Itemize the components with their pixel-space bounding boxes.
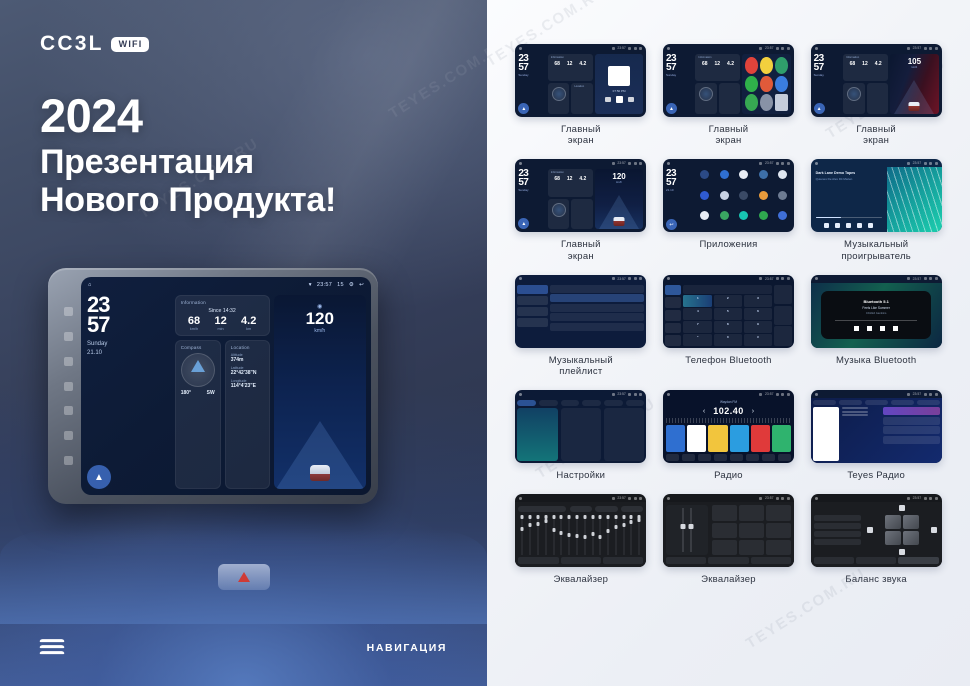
track-title: Feels Like Summer bbox=[862, 306, 889, 310]
sidebar-item-albums[interactable] bbox=[517, 307, 547, 316]
status-time: 23:57 bbox=[913, 392, 922, 396]
playback-controls[interactable] bbox=[605, 96, 634, 103]
prev-icon[interactable] bbox=[835, 223, 840, 228]
preset-button[interactable] bbox=[766, 540, 791, 555]
band-fader[interactable] bbox=[605, 515, 611, 555]
nav-countries[interactable] bbox=[865, 400, 888, 405]
location-card[interactable]: Location Altitude 374m Latitude 22°42'38… bbox=[225, 340, 270, 489]
preset-button[interactable] bbox=[712, 540, 737, 555]
band-fader[interactable] bbox=[543, 515, 549, 555]
metric-value: 12 bbox=[214, 316, 226, 327]
preset-button[interactable] bbox=[766, 523, 791, 538]
thumb-home-screen-road-red[interactable]: 23:57 23 57 Sunday ▲ Information bbox=[811, 44, 942, 117]
preset-button[interactable] bbox=[739, 540, 764, 555]
preset-station[interactable] bbox=[751, 425, 770, 452]
dialpad-key[interactable]: 6 bbox=[744, 308, 773, 320]
grid-cell[interactable]: 23:57 bbox=[806, 390, 946, 481]
grid-cell[interactable]: 23:57 23 57 Sunday ▲ Information bbox=[806, 44, 946, 146]
tab-balance[interactable] bbox=[603, 557, 643, 564]
band-fader[interactable] bbox=[558, 515, 564, 555]
speed-unit: km/h bbox=[616, 181, 622, 184]
equalizer-tabs[interactable] bbox=[518, 557, 643, 564]
thumb-music-player[interactable]: 23:57 Dark Lane Demo Tapes Quienes De Al… bbox=[811, 159, 942, 232]
back-button[interactable]: ↩ bbox=[666, 219, 677, 230]
app-icon-dvr-recorder[interactable] bbox=[739, 191, 748, 200]
toolbar-loc[interactable] bbox=[746, 454, 759, 461]
compass-card[interactable] bbox=[843, 83, 865, 114]
rail-button-vol-up[interactable] bbox=[64, 456, 73, 465]
preset-button[interactable] bbox=[712, 523, 737, 538]
headline-year: 2024 bbox=[40, 92, 336, 139]
thumb-caption: Музыкальныйпроигрыватель bbox=[841, 239, 911, 261]
pause-icon[interactable] bbox=[846, 223, 851, 228]
save-button[interactable] bbox=[595, 506, 618, 512]
band-fader[interactable] bbox=[636, 515, 642, 555]
tab-eq[interactable] bbox=[666, 557, 706, 564]
grid-cell[interactable]: 23:57 23 57 Sunday ▲ Information bbox=[659, 44, 799, 146]
app-icon-yandex[interactable] bbox=[760, 57, 773, 74]
sidebar-item-settings[interactable] bbox=[665, 335, 682, 346]
grid-cell[interactable]: 23:57 1 bbox=[659, 275, 799, 377]
home-icon bbox=[815, 162, 818, 165]
device-side-rail[interactable] bbox=[55, 277, 81, 495]
speaker-levels[interactable] bbox=[814, 505, 862, 555]
app-icon-maps[interactable] bbox=[775, 57, 788, 74]
fader-treble[interactable] bbox=[690, 508, 692, 552]
metric-value: 4.2 bbox=[579, 176, 586, 182]
rail-button-next[interactable] bbox=[64, 332, 73, 341]
thumb-home-screen-music[interactable]: 23:57 23 57 Sunday ▲ Information bbox=[515, 44, 646, 117]
status-time: 23:57 bbox=[317, 282, 332, 288]
dialpad[interactable]: 1 2 3 4 5 6 7 8 9 * 0 # bbox=[683, 285, 772, 346]
track-list[interactable] bbox=[550, 285, 645, 346]
information-card[interactable]: Information 68 12 4.2 bbox=[548, 169, 593, 196]
preset-station[interactable] bbox=[687, 425, 706, 452]
playback-controls[interactable] bbox=[854, 326, 898, 331]
rail-button-back[interactable] bbox=[64, 406, 73, 415]
preset-button[interactable] bbox=[712, 505, 737, 520]
fader-bass[interactable] bbox=[682, 508, 684, 552]
equalizer-tabs[interactable] bbox=[666, 557, 791, 564]
status-time: 23:57 bbox=[765, 496, 774, 500]
preset-buttons[interactable] bbox=[712, 505, 791, 555]
dialpad-key[interactable]: 4 bbox=[683, 308, 712, 320]
frequency-scale[interactable] bbox=[666, 418, 791, 423]
tab-effects[interactable] bbox=[708, 557, 748, 564]
tab-eq[interactable] bbox=[518, 557, 558, 564]
level-front-left[interactable] bbox=[814, 515, 862, 521]
nav-favorites[interactable] bbox=[891, 400, 914, 405]
preset-station[interactable] bbox=[666, 425, 685, 452]
location-card[interactable]: Location bbox=[571, 83, 593, 114]
app-icon-all-apps[interactable] bbox=[775, 94, 788, 111]
app-icon-gallery[interactable] bbox=[778, 191, 787, 200]
bluetooth-version-label: Bluetooth 5.1 bbox=[863, 299, 888, 304]
compass-dial-icon bbox=[847, 87, 861, 101]
sidebar-item-folders[interactable] bbox=[517, 318, 547, 327]
nav-genres[interactable] bbox=[839, 400, 862, 405]
presentation-slide: TEYES.COM.RU TEYES.COM.RU CC3L WIFI 2024… bbox=[0, 0, 970, 686]
list-item[interactable] bbox=[550, 285, 645, 293]
grid-cell[interactable]: 23:57 Waydan FM ‹ 102.40 › bbox=[659, 390, 799, 481]
home-icon bbox=[815, 393, 818, 396]
navigation-button[interactable]: ▲ bbox=[814, 103, 825, 114]
app-icon-bluetooth[interactable] bbox=[720, 170, 729, 179]
thumb-bluetooth-phone[interactable]: 23:57 1 bbox=[663, 275, 794, 348]
band-fader[interactable] bbox=[582, 515, 588, 555]
information-card[interactable]: Information Since 14:32 68 km/h 12 bbox=[175, 295, 270, 336]
level-front-right[interactable] bbox=[814, 523, 862, 529]
prev-station-icon[interactable]: ‹ bbox=[703, 408, 705, 415]
now-playing-info: Dark Lane Demo Tapes Quienes De Alex Dit… bbox=[811, 167, 887, 232]
tab-system[interactable] bbox=[626, 400, 645, 406]
app-icon-play-store[interactable] bbox=[745, 94, 758, 111]
band-fader[interactable] bbox=[620, 515, 626, 555]
tab-display[interactable] bbox=[561, 400, 580, 406]
arrow-left-icon[interactable] bbox=[867, 527, 873, 533]
arrow-up-icon[interactable] bbox=[899, 505, 905, 511]
tab-wifi[interactable] bbox=[517, 400, 536, 406]
app-icon-bluetooth-music[interactable] bbox=[739, 170, 748, 179]
location-card[interactable] bbox=[571, 199, 593, 230]
application-grid[interactable] bbox=[696, 169, 791, 230]
tab-effects[interactable] bbox=[561, 557, 601, 564]
information-title: Information bbox=[698, 56, 737, 59]
back-icon[interactable]: ↩ bbox=[359, 282, 364, 288]
screen-body: 23 57 Sunday 21.10 ▲ Information Since 1… bbox=[81, 292, 371, 495]
band-fader[interactable] bbox=[574, 515, 580, 555]
home-icon bbox=[667, 393, 670, 396]
status-time: 23:57 bbox=[913, 496, 922, 500]
location-card[interactable] bbox=[719, 83, 741, 114]
band-fader[interactable] bbox=[589, 515, 595, 555]
compass-card[interactable] bbox=[695, 83, 717, 114]
thumb-radio[interactable]: 23:57 Waydan FM ‹ 102.40 › bbox=[663, 390, 794, 463]
app-icon-calculator[interactable] bbox=[759, 170, 768, 179]
reset-button[interactable] bbox=[570, 506, 593, 512]
information-title: Information bbox=[551, 56, 590, 59]
level-rear-left[interactable] bbox=[814, 531, 862, 537]
card-wifi[interactable] bbox=[517, 408, 557, 461]
app-icon-phone[interactable] bbox=[745, 76, 758, 93]
app-icon-file-manager[interactable] bbox=[759, 191, 768, 200]
app-icon-radio[interactable] bbox=[778, 211, 787, 220]
status-time: 23:57 bbox=[765, 46, 774, 50]
status-time: 23:57 bbox=[913, 161, 922, 165]
home-icon bbox=[519, 47, 522, 50]
navigation-button[interactable]: ▲ bbox=[666, 103, 677, 114]
toolbar-list[interactable] bbox=[698, 454, 711, 461]
apps-widget[interactable] bbox=[742, 54, 791, 114]
dialpad-key[interactable]: 5 bbox=[714, 308, 743, 320]
call-icon[interactable] bbox=[774, 326, 792, 345]
band-fader[interactable] bbox=[566, 515, 572, 555]
home-icon bbox=[519, 393, 522, 396]
speaker-quadrants[interactable] bbox=[885, 515, 919, 545]
band-fader[interactable] bbox=[628, 515, 634, 555]
grid-cell[interactable]: 23:57 bbox=[511, 275, 651, 377]
sync-contacts-icon[interactable] bbox=[774, 306, 792, 325]
preset-station[interactable] bbox=[772, 425, 791, 452]
information-title: Information bbox=[846, 56, 885, 59]
app-icon-google[interactable] bbox=[700, 211, 709, 220]
next-icon[interactable] bbox=[893, 326, 898, 331]
dialpad-keys[interactable]: 1 2 3 4 5 6 7 8 9 * 0 # bbox=[683, 295, 772, 346]
compass-heading: 180° bbox=[181, 390, 191, 396]
station-presets[interactable] bbox=[666, 425, 791, 452]
dialpad-key[interactable]: # bbox=[744, 334, 773, 346]
toolbar-rds[interactable] bbox=[730, 454, 743, 461]
progress-bar[interactable] bbox=[835, 320, 916, 321]
sidebar-item-artists[interactable] bbox=[517, 296, 547, 305]
thumb-music-playlist[interactable]: 23:57 bbox=[515, 275, 646, 348]
equalizer-header[interactable] bbox=[518, 505, 643, 513]
list-item[interactable] bbox=[550, 294, 645, 302]
tab-eq[interactable] bbox=[814, 557, 854, 564]
preset-button[interactable] bbox=[766, 505, 791, 520]
list-item[interactable] bbox=[550, 313, 645, 321]
dialpad-key[interactable]: 2 bbox=[714, 295, 743, 307]
thumb-equalizer-bands[interactable]: 23:57 bbox=[515, 494, 646, 567]
music-widget[interactable]: 07:50 PM bbox=[595, 54, 644, 114]
dialpad-key[interactable]: 8 bbox=[714, 321, 743, 333]
mini-status-bar: 23:57 bbox=[515, 494, 646, 502]
thumb-sound-balance[interactable]: 23:57 bbox=[811, 494, 942, 567]
app-icon-music[interactable] bbox=[760, 76, 773, 93]
sidebar-item-contacts[interactable] bbox=[665, 297, 682, 308]
drive-assist-widget[interactable]: 105 km/h bbox=[890, 54, 939, 114]
sidebar-item-dialpad[interactable] bbox=[665, 285, 682, 296]
app-icon-youtube[interactable] bbox=[745, 57, 758, 74]
tab-theme[interactable] bbox=[582, 400, 601, 406]
lead-car-graphic bbox=[310, 465, 330, 481]
metric-value: 4.2 bbox=[241, 316, 256, 327]
navigation-button[interactable]: ▲ bbox=[87, 465, 111, 489]
play-pause-icon[interactable] bbox=[867, 326, 872, 331]
playback-controls[interactable] bbox=[816, 223, 882, 228]
repeat-icon[interactable] bbox=[868, 223, 873, 228]
toolbar-settings[interactable] bbox=[762, 454, 775, 461]
home-icon bbox=[815, 277, 818, 280]
grid-cell[interactable]: 23:57 bbox=[511, 494, 651, 585]
compass-card[interactable] bbox=[548, 199, 570, 230]
grid-cell[interactable]: 23:57 23 57 Sunday ▲ Information bbox=[511, 159, 651, 261]
app-icon-settings[interactable] bbox=[760, 94, 773, 111]
tab-general[interactable] bbox=[604, 400, 623, 406]
app-icon-camera[interactable] bbox=[778, 170, 787, 179]
nav-history[interactable] bbox=[917, 400, 940, 405]
product-model: CC3L bbox=[40, 32, 104, 56]
toolbar-eq[interactable] bbox=[778, 454, 791, 461]
location-card[interactable] bbox=[867, 83, 889, 114]
information-card[interactable]: Information 68 12 4.2 bbox=[695, 54, 740, 81]
compass-card[interactable] bbox=[548, 83, 570, 114]
phone-number-input[interactable] bbox=[683, 285, 772, 294]
list-item[interactable] bbox=[883, 417, 940, 425]
clock-minutes: 57 bbox=[666, 63, 694, 72]
thumb-home-screen-road[interactable]: 23:57 23 57 Sunday ▲ Information bbox=[515, 159, 646, 232]
toolbar-scan[interactable] bbox=[714, 454, 727, 461]
arrow-right-icon[interactable] bbox=[931, 527, 937, 533]
band-fader[interactable] bbox=[519, 515, 525, 555]
home-icon[interactable]: ⌂ bbox=[88, 282, 92, 288]
compass-card[interactable]: Compass 180° SW bbox=[175, 340, 221, 489]
band-fader[interactable] bbox=[535, 515, 541, 555]
tab-balance[interactable] bbox=[751, 557, 791, 564]
grid-cell[interactable]: 23:57 23 57 21.10 ↩ bbox=[659, 159, 799, 261]
thumb-teyes-radio[interactable]: 23:57 bbox=[811, 390, 942, 463]
tab-effects[interactable] bbox=[856, 557, 896, 564]
navigation-button[interactable]: ▲ bbox=[518, 103, 529, 114]
grid-cell[interactable]: 23:57 bbox=[511, 390, 651, 481]
thumb-caption: Эквалайзер bbox=[701, 574, 756, 585]
effect-faders[interactable] bbox=[666, 505, 709, 555]
list-item[interactable] bbox=[550, 304, 645, 312]
prev-icon[interactable] bbox=[854, 326, 859, 331]
settings-tabs[interactable] bbox=[517, 400, 644, 406]
lead-car-graphic bbox=[614, 217, 625, 226]
shuffle-icon[interactable] bbox=[824, 223, 829, 228]
tab-sound[interactable] bbox=[539, 400, 558, 406]
thumb-caption: Главныйэкран bbox=[709, 124, 749, 146]
playlist-sidebar[interactable] bbox=[517, 285, 547, 346]
sidebar-item-call-log[interactable] bbox=[665, 323, 682, 334]
thumb-applications[interactable]: 23:57 23 57 21.10 ↩ bbox=[663, 159, 794, 232]
metric-unit: km/h bbox=[188, 327, 200, 331]
device-bezel: ⌂ ▾ 23:57 15 ⚙ ↩ 23 57 Sund bbox=[48, 268, 378, 504]
grid-cell[interactable]: 23:57 Dark Lane Demo Tapes Quienes De Al… bbox=[806, 159, 946, 261]
rail-button-vol-down[interactable] bbox=[64, 431, 73, 440]
favorite-icon[interactable] bbox=[774, 285, 792, 304]
thumb-settings[interactable]: 23:57 bbox=[515, 390, 646, 463]
next-station-icon[interactable]: › bbox=[752, 408, 754, 415]
preset-station[interactable] bbox=[730, 425, 749, 452]
phone-sidebar[interactable] bbox=[665, 285, 682, 346]
track-artist: Quienes De Alex Dit Mazen bbox=[816, 177, 882, 181]
app-icon-mail[interactable] bbox=[775, 76, 788, 93]
hazard-light-button[interactable] bbox=[218, 564, 270, 590]
dialpad-key[interactable]: 0 bbox=[714, 334, 743, 346]
grid-cell[interactable]: 23:57 bbox=[806, 494, 946, 585]
grid-cell[interactable]: 23:57 Bluetooth 5.1 Feels Like Summer Ch… bbox=[806, 275, 946, 377]
rail-button-prev[interactable] bbox=[64, 307, 73, 316]
clock-minutes: 57 bbox=[666, 178, 694, 187]
list-item[interactable] bbox=[883, 426, 940, 434]
nav-all[interactable] bbox=[813, 400, 836, 405]
station-list[interactable] bbox=[883, 407, 940, 461]
settings-cards[interactable] bbox=[517, 408, 644, 461]
card-more[interactable] bbox=[604, 408, 644, 461]
rail-button-home[interactable] bbox=[64, 382, 73, 391]
load-button[interactable] bbox=[621, 506, 644, 512]
dialpad-key[interactable]: * bbox=[683, 334, 712, 346]
information-card[interactable]: Information 68 12 4.2 bbox=[843, 54, 888, 81]
balance-body bbox=[814, 505, 939, 555]
metric-unit: km bbox=[241, 327, 256, 331]
longitude-row: Longitude 114°4'23"E bbox=[231, 379, 264, 389]
teyes-nav-row[interactable] bbox=[813, 400, 940, 405]
speed-unit: km/h bbox=[912, 66, 918, 69]
mini-status-bar: 23:57 bbox=[663, 159, 794, 167]
clock-minutes: 57 bbox=[518, 178, 546, 187]
band-fader[interactable] bbox=[527, 515, 533, 555]
preset-button[interactable] bbox=[739, 505, 764, 520]
status-bar: ⌂ ▾ 23:57 15 ⚙ ↩ bbox=[81, 277, 371, 292]
mini-status-bar: 23:57 bbox=[663, 494, 794, 502]
navigation-button[interactable]: ▲ bbox=[518, 218, 529, 229]
drive-assist-widget[interactable]: 120 km/h bbox=[595, 169, 644, 229]
radio-toolbar[interactable] bbox=[666, 454, 791, 461]
app-icon-contacts[interactable] bbox=[720, 191, 729, 200]
band-fader[interactable] bbox=[613, 515, 619, 555]
preset-button[interactable] bbox=[739, 523, 764, 538]
toolbar-search[interactable] bbox=[682, 454, 695, 461]
rail-button-power[interactable] bbox=[64, 357, 73, 366]
equalizer-tabs[interactable] bbox=[814, 557, 939, 564]
app-icon-play-store[interactable] bbox=[759, 211, 768, 220]
thumb-bluetooth-music[interactable]: 23:57 Bluetooth 5.1 Feels Like Summer Ch… bbox=[811, 275, 942, 348]
toolbar-band[interactable] bbox=[666, 454, 679, 461]
gear-icon[interactable]: ⚙ bbox=[349, 282, 354, 288]
sidebar-item-tracks[interactable] bbox=[517, 285, 547, 294]
now-playing-bar[interactable] bbox=[550, 323, 645, 331]
left-footer: НАВИГАЦИЯ bbox=[0, 638, 487, 658]
progress-bar[interactable] bbox=[816, 217, 882, 219]
app-icon-maps[interactable] bbox=[720, 211, 729, 220]
home-icon bbox=[667, 162, 670, 165]
next-icon[interactable] bbox=[857, 223, 862, 228]
list-item[interactable] bbox=[883, 407, 940, 415]
preset-station[interactable] bbox=[708, 425, 727, 452]
band-fader[interactable] bbox=[550, 515, 556, 555]
phone-actions[interactable] bbox=[774, 285, 792, 346]
grid-cell[interactable]: 23:57 23 57 Sunday ▲ Information bbox=[511, 44, 651, 146]
thumb-home-screen-apps[interactable]: 23:57 23 57 Sunday ▲ Information bbox=[663, 44, 794, 117]
card-traffic-usage[interactable] bbox=[561, 408, 601, 461]
status-time: 23:57 bbox=[765, 161, 774, 165]
device-screen[interactable]: ⌂ ▾ 23:57 15 ⚙ ↩ 23 57 Sund bbox=[81, 277, 371, 495]
tab-balance[interactable] bbox=[898, 557, 938, 564]
arrow-down-icon[interactable] bbox=[899, 549, 905, 555]
dialpad-key[interactable]: 9 bbox=[744, 321, 773, 333]
metric-value: 68 bbox=[702, 61, 708, 67]
clock-date: 21.10 bbox=[87, 349, 171, 357]
sub-cards-row: Compass 180° SW Location bbox=[175, 340, 270, 489]
level-rear-right[interactable] bbox=[814, 539, 862, 545]
sidebar-item-search[interactable] bbox=[665, 310, 682, 321]
dialpad-key[interactable]: 1 bbox=[683, 295, 712, 307]
thumb-equalizer-presets[interactable]: 23:57 bbox=[663, 494, 794, 567]
dialpad-key[interactable]: 7 bbox=[683, 321, 712, 333]
grid-cell[interactable]: 23:57 bbox=[659, 494, 799, 585]
metric-value: 4.2 bbox=[727, 61, 734, 67]
clock-weekday: Sunday bbox=[814, 74, 842, 78]
app-icon-chrome[interactable] bbox=[700, 191, 709, 200]
drive-assist-panel[interactable]: ◉ 120 km/h bbox=[274, 295, 366, 489]
metric-value: 4.2 bbox=[579, 61, 586, 67]
preset-name[interactable] bbox=[518, 506, 566, 512]
app-icon-music-player[interactable] bbox=[739, 211, 748, 220]
dialpad-key[interactable]: 3 bbox=[744, 295, 773, 307]
home-icon bbox=[667, 497, 670, 500]
app-icon-aux[interactable] bbox=[700, 170, 709, 179]
band-faders[interactable] bbox=[518, 513, 643, 557]
list-item[interactable] bbox=[883, 436, 940, 444]
stop-icon[interactable] bbox=[880, 326, 885, 331]
balance-pad[interactable] bbox=[865, 505, 939, 555]
information-card[interactable]: Information 68 12 4.2 bbox=[548, 54, 593, 81]
band-fader[interactable] bbox=[597, 515, 603, 555]
